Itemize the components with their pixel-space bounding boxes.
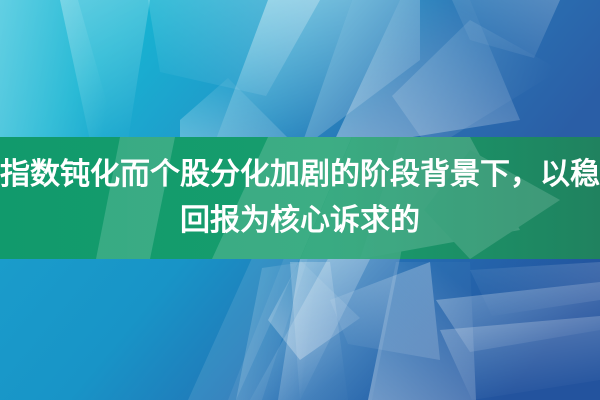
headline-line-2: 回报为核心诉求的	[180, 198, 420, 244]
banner-graphic: 在指数钝化而个股分化加剧的阶段背景下，以稳健 回报为核心诉求的	[0, 0, 600, 400]
headline-text-block: 在指数钝化而个股分化加剧的阶段背景下，以稳健 回报为核心诉求的	[0, 137, 600, 259]
headline-line-1: 在指数钝化而个股分化加剧的阶段背景下，以稳健	[0, 152, 600, 198]
